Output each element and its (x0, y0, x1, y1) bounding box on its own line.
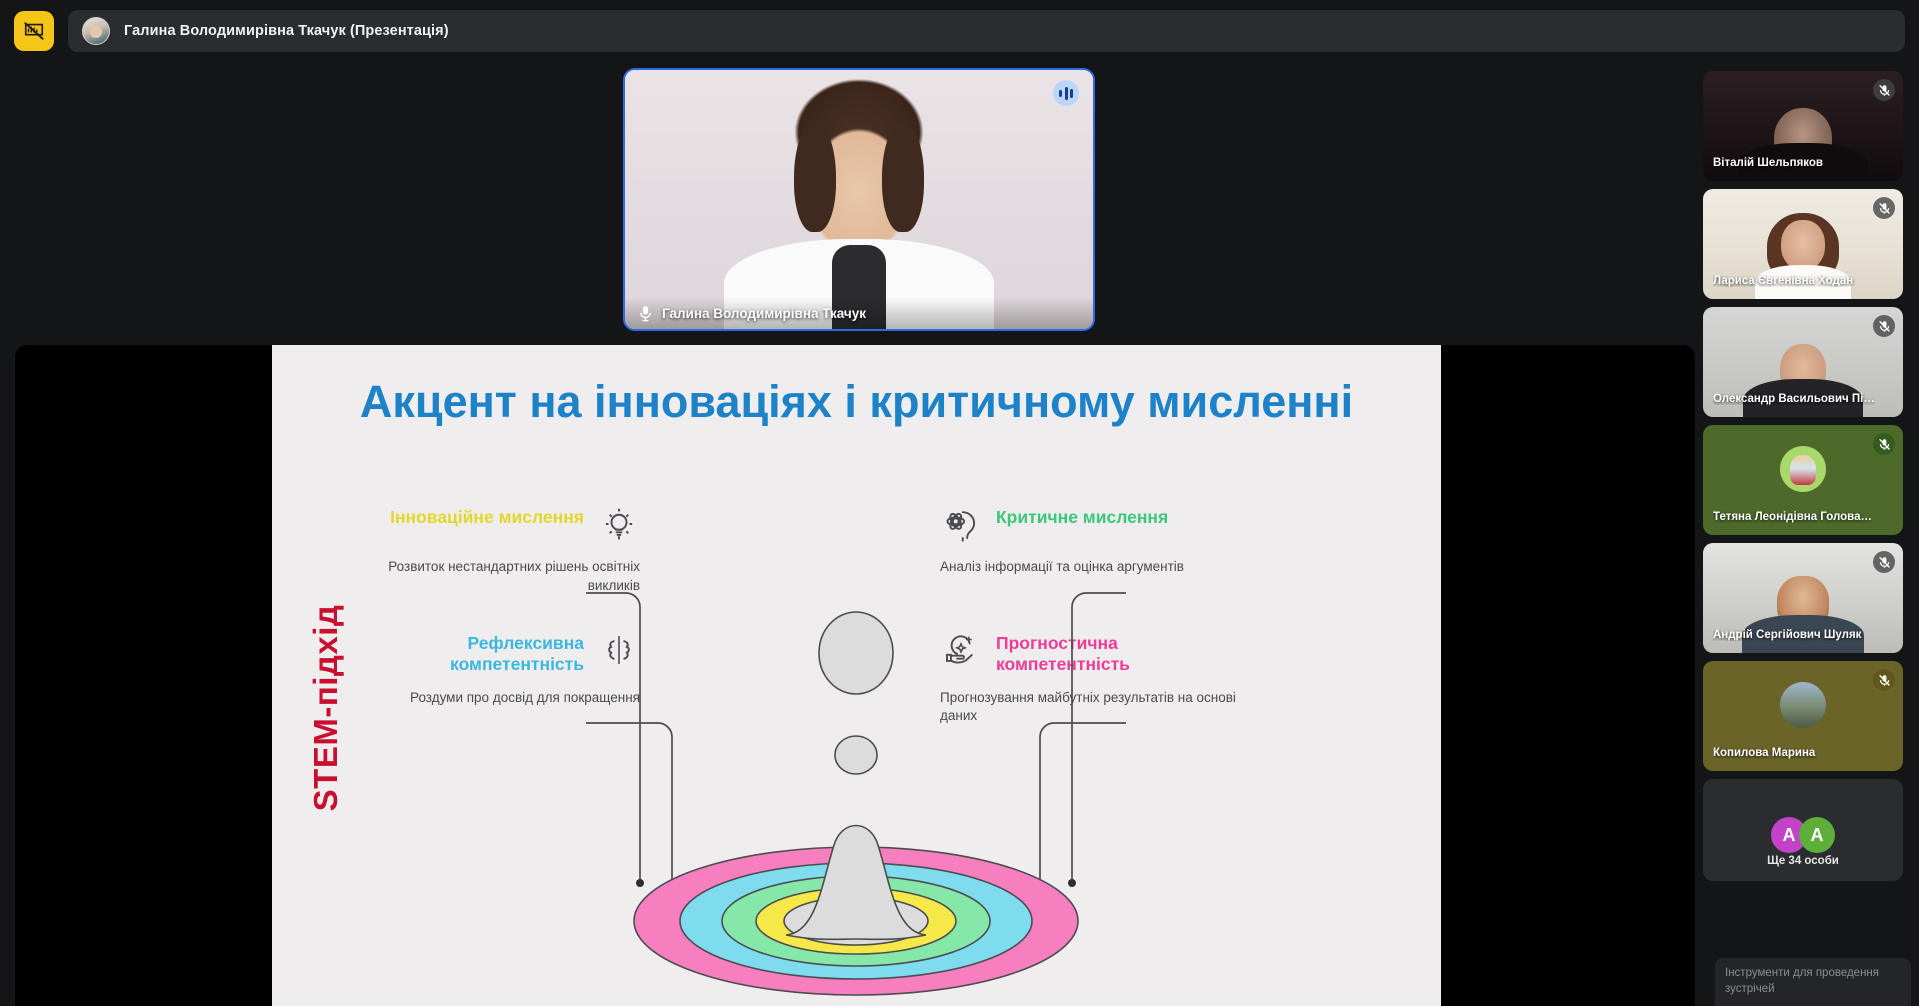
presenter-pill[interactable]: Галина Володимирівна Ткачук (Презентація… (68, 10, 1905, 52)
meeting-tools-tooltip: Інструменти для проведення зустрічей (1715, 958, 1911, 1006)
mic-off-icon[interactable] (1873, 315, 1895, 337)
participant-tile[interactable]: Лариса Євгенівна Ходан (1703, 189, 1903, 299)
active-speaker-tile[interactable]: Галина Володимирівна Ткачук (623, 68, 1095, 331)
avatar (82, 17, 110, 45)
overflow-participants-tile[interactable]: A A Ще 34 особи (1703, 779, 1903, 881)
top-bar: Галина Володимирівна Ткачук (Презентація… (0, 0, 1919, 62)
mic-off-icon[interactable] (1873, 433, 1895, 455)
participant-tile[interactable]: Тетяна Леонідівна Голован… (1703, 425, 1903, 535)
decor (794, 122, 836, 232)
stop-screen-share-icon (23, 20, 45, 42)
decor (1781, 220, 1825, 270)
avatar: A (1799, 817, 1835, 853)
participant-name: Копилова Марина (1713, 747, 1875, 759)
mic-off-icon[interactable] (1873, 669, 1895, 691)
shared-screen-stage[interactable]: Акцент на інноваціях і критичному мислен… (15, 345, 1695, 1006)
participant-name: Віталій Шельпяков (1713, 157, 1875, 169)
participant-name: Олександр Васильович Під… (1713, 393, 1875, 405)
mic-off-icon[interactable] (1873, 551, 1895, 573)
participant-name: Андрій Сергійович Шуляк (1713, 629, 1875, 641)
overflow-count-label: Ще 34 особи (1703, 855, 1903, 867)
stem-approach-label: STEM-підхід (307, 578, 345, 838)
feature-description: Аналіз інформації та оцінка аргументів (940, 558, 1240, 577)
slide-title: Акцент на інноваціях і критичному мислен… (332, 377, 1381, 426)
stop-screen-share-button[interactable] (14, 11, 54, 51)
avatar (1780, 446, 1826, 492)
participant-name: Лариса Євгенівна Ходан (1713, 275, 1875, 287)
participant-tile[interactable]: Віталій Шельпяков (1703, 71, 1903, 181)
feature-innovative-thinking: Інноваційне мислення Розвиток нестандарт… (340, 507, 640, 595)
speaker-video-frame (625, 70, 1093, 329)
head-atom-icon (940, 503, 982, 545)
participant-name: Тетяна Леонідівна Голован… (1713, 511, 1875, 523)
feature-critical-thinking: Критичне мислення Аналіз інформації та о… (940, 507, 1240, 577)
participant-tile[interactable]: Копилова Марина (1703, 661, 1903, 771)
feature-title: Критичне мислення (996, 507, 1168, 528)
speaker-name-bar: Галина Володимирівна Ткачук (625, 297, 1093, 329)
feature-title: Інноваційне мислення (390, 507, 584, 528)
participant-rail[interactable]: Віталій Шельпяков Лариса Євгенівна Ходан (1695, 62, 1919, 1006)
meeting-screen: Галина Володимирівна Ткачук (Презентація… (0, 0, 1919, 1006)
microphone-icon (639, 305, 652, 322)
presenter-name: Галина Володимирівна Ткачук (Презентація… (124, 23, 449, 39)
audio-level-icon[interactable] (1053, 80, 1079, 106)
speaker-name: Галина Володимирівна Ткачук (662, 306, 866, 321)
decor (882, 122, 924, 232)
ripple-diagram (486, 583, 1226, 1003)
avatar (1780, 682, 1826, 728)
gear-lightbulb-icon (598, 503, 640, 545)
participant-tile[interactable]: Олександр Васильович Під… (1703, 307, 1903, 417)
presentation-slide: Акцент на інноваціях і критичному мислен… (272, 345, 1441, 1006)
mic-off-icon[interactable] (1873, 197, 1895, 219)
participant-tile[interactable]: Андрій Сергійович Шуляк (1703, 543, 1903, 653)
mic-off-icon[interactable] (1873, 79, 1895, 101)
overflow-avatars: A A (1771, 817, 1835, 853)
